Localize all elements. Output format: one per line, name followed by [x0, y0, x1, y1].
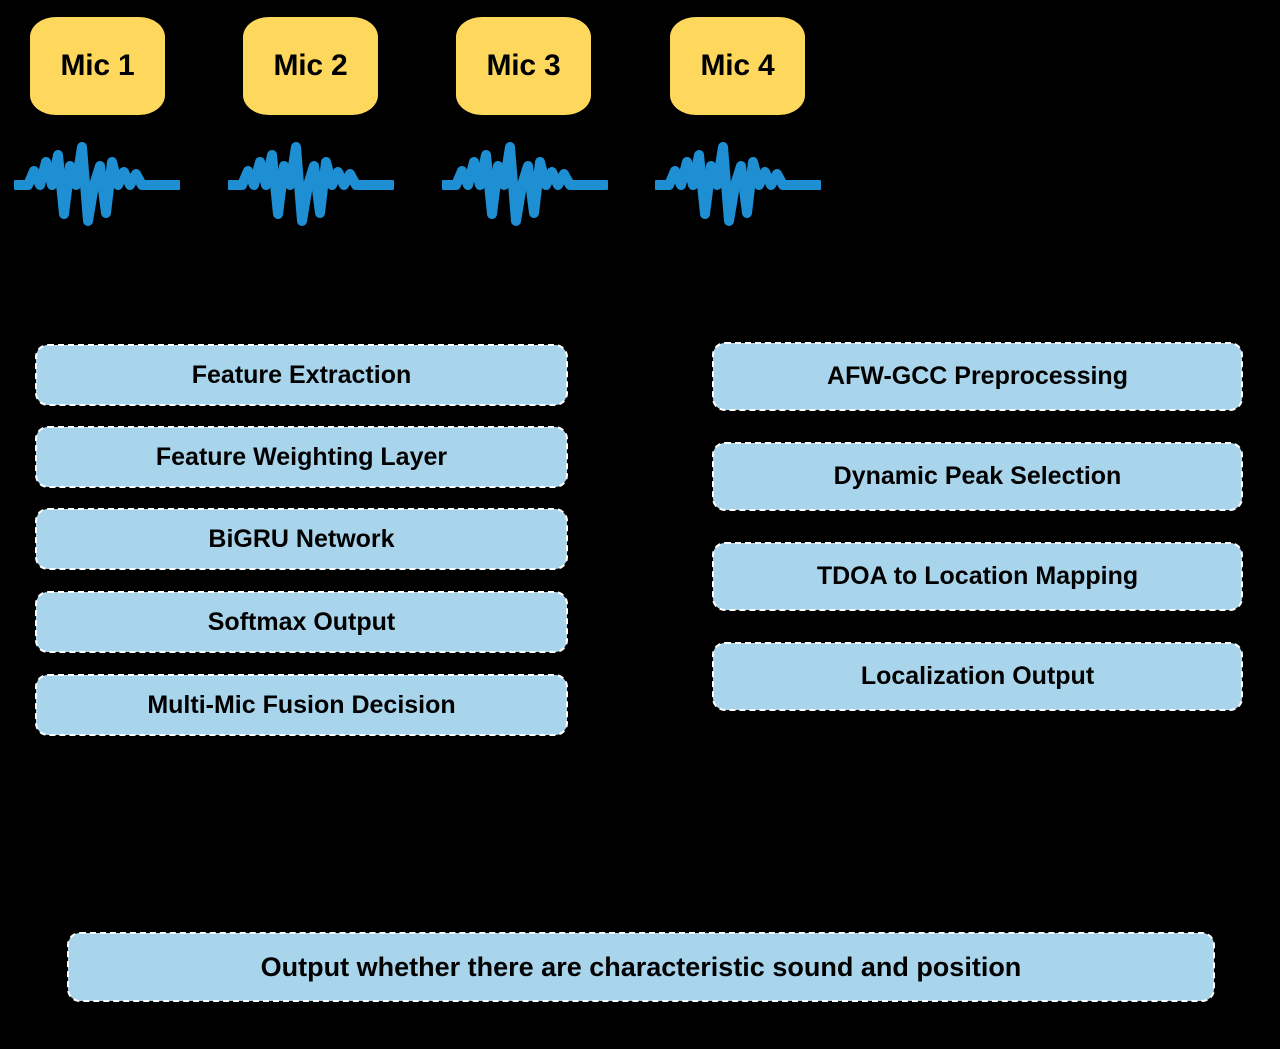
process-step-label: AFW-GCC Preprocessing [827, 363, 1128, 389]
process-step-afw-gcc-preprocessing[interactable]: AFW-GCC Preprocessing [713, 343, 1242, 410]
process-step-feature-extraction[interactable]: Feature Extraction [36, 345, 567, 405]
process-step-label: Softmax Output [208, 609, 396, 635]
final-output-label: Output whether there are characteristic … [261, 952, 1022, 983]
process-step-localization-output[interactable]: Localization Output [713, 643, 1242, 710]
mic-node-4[interactable]: Mic 4 [670, 17, 805, 115]
final-output-box[interactable]: Output whether there are characteristic … [68, 933, 1214, 1001]
process-step-label: Feature Extraction [192, 362, 412, 388]
audio-waveform-icon-1 [14, 142, 180, 228]
mic-node-1-label: Mic 1 [60, 51, 134, 81]
process-step-bigru-network[interactable]: BiGRU Network [36, 509, 567, 569]
process-step-softmax-output[interactable]: Softmax Output [36, 592, 567, 652]
mic-node-2[interactable]: Mic 2 [243, 17, 378, 115]
process-step-tdoa-to-location-mapping[interactable]: TDOA to Location Mapping [713, 543, 1242, 610]
process-step-label: Localization Output [861, 663, 1094, 689]
diagram-canvas: Mic 1 Mic 2 Mic 3 Mic 4 [0, 0, 1280, 1049]
process-step-label: TDOA to Location Mapping [817, 563, 1138, 589]
audio-waveform-icon-2 [228, 142, 394, 228]
audio-waveform-icon-3 [442, 142, 608, 228]
audio-waveform-icon-4 [655, 142, 821, 228]
process-step-label: Dynamic Peak Selection [834, 463, 1122, 489]
mic-node-4-label: Mic 4 [700, 51, 774, 81]
process-step-label: BiGRU Network [208, 526, 394, 552]
process-step-feature-weighting-layer[interactable]: Feature Weighting Layer [36, 427, 567, 487]
process-step-label: Multi-Mic Fusion Decision [147, 692, 455, 718]
mic-node-3[interactable]: Mic 3 [456, 17, 591, 115]
mic-node-1[interactable]: Mic 1 [30, 17, 165, 115]
process-step-multi-mic-fusion-decision[interactable]: Multi-Mic Fusion Decision [36, 675, 567, 735]
process-step-label: Feature Weighting Layer [156, 444, 447, 470]
mic-node-2-label: Mic 2 [273, 51, 347, 81]
process-step-dynamic-peak-selection[interactable]: Dynamic Peak Selection [713, 443, 1242, 510]
mic-node-3-label: Mic 3 [486, 51, 560, 81]
